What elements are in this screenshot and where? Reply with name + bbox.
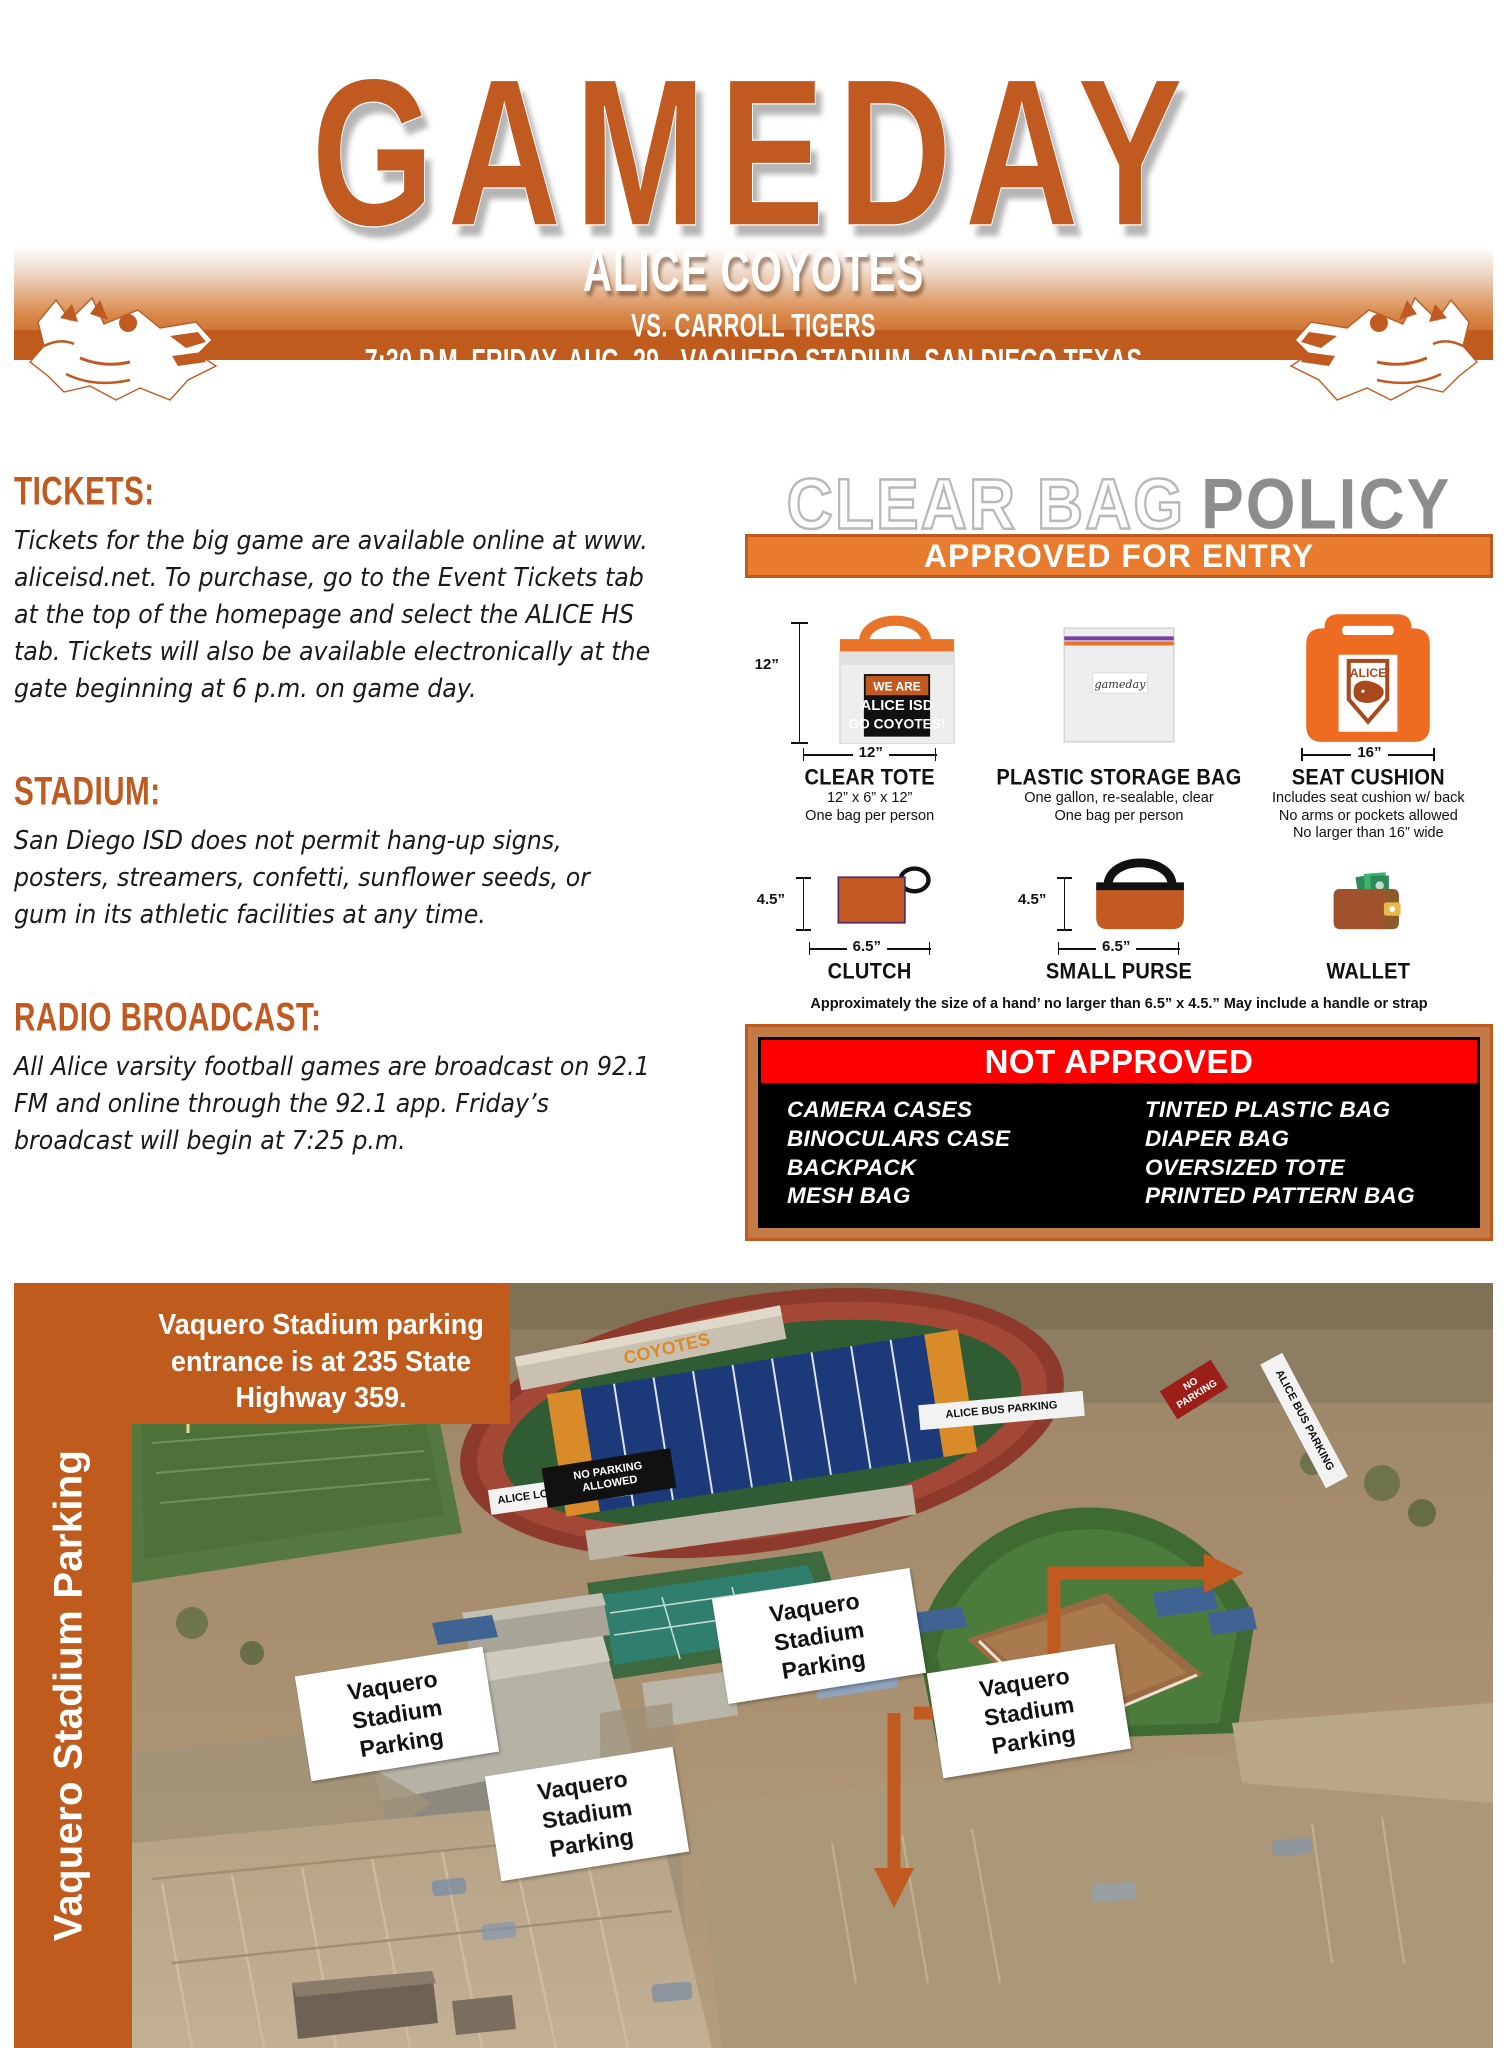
svg-text:gameday: gameday (1094, 678, 1146, 691)
team-name: ALICE COYOTES (118, 236, 1390, 305)
approved-bags-row-2: 4.5” 6.5” CLUTCH (745, 853, 1493, 984)
radio-section: RADIO BROADCAST: All Alice varsity footb… (14, 994, 714, 1160)
opponent-name: VS. CARROLL TIGERS (103, 308, 1405, 346)
clutch-width-dim-group: 6.5” (785, 938, 955, 958)
not-approved-item: CAMERA CASES (787, 1096, 1119, 1125)
clutch-width-dim: 6.5” (847, 938, 887, 955)
cbp-title-solid: POLICY (1201, 468, 1451, 540)
left-info-column: TICKETS: Tickets for the big game are av… (14, 468, 714, 1160)
approved-item-clear-tote: 12” WE ARE ALICE ISD GO COYOTES (745, 594, 994, 843)
seat-cushion-sub1: Includes seat cushion w/ back (1272, 790, 1465, 808)
approved-item-plastic-bag: gameday PLASTIC STORAGE BAG One gallon, … (994, 594, 1243, 843)
clear-tote-sub2: One bag per person (805, 808, 934, 826)
seat-cushion-icon: ALICE (1292, 602, 1444, 744)
clear-tote-height-dim: 12” (755, 656, 779, 673)
clear-tote-width-dim-group: 12” (785, 744, 955, 764)
svg-text:GO COYOTES!: GO COYOTES! (848, 716, 945, 731)
svg-text:ALICE ISD: ALICE ISD (860, 698, 933, 714)
spacer-1 (14, 708, 714, 768)
wallet-label: WALLET (1326, 960, 1410, 985)
game-details: 7:30 P.M. FRIDAY, AUG. 29 - VAQUERO STAD… (118, 342, 1390, 382)
svg-text:ALICE: ALICE (1350, 666, 1386, 680)
not-approved-item: MESH BAG (787, 1182, 1119, 1211)
tickets-body: Tickets for the big game are available o… (14, 523, 665, 708)
bag-size-footnote: Approximately the size of a hand’ no lar… (745, 996, 1493, 1012)
seat-cushion-label: SEAT CUSHION (1292, 766, 1445, 791)
small-purse-icon (1076, 857, 1208, 935)
clear-tote-icon: WE ARE ALICE ISD GO COYOTES! (817, 606, 977, 744)
clutch-label: CLUTCH (828, 960, 912, 985)
stadium-body: San Diego ISD does not permit hang-up si… (14, 823, 646, 934)
clutch-icon (817, 865, 949, 935)
seat-cushion-sub2: No arms or pockets allowed (1279, 808, 1458, 826)
radio-heading: RADIO BROADCAST: (14, 994, 644, 1040)
header-text-group: ALICE COYOTES VS. CARROLL TIGERS 7:30 P.… (14, 246, 1493, 361)
approved-item-small-purse: 4.5” 6.5” SMALL PURSE (994, 853, 1243, 984)
not-approved-item: DIAPER BAG (1145, 1125, 1477, 1154)
purse-width-dim-group: 6.5” (1034, 938, 1204, 958)
wallet-icon (1322, 870, 1414, 938)
approved-item-seat-cushion: ALICE 16” SEAT CUSHION Includes seat cus… (1244, 594, 1493, 843)
purse-height-dim: 4.5” (1018, 891, 1046, 908)
clear-tote-width-dim: 12” (853, 744, 889, 761)
title-zone: GAMEDAY (0, 0, 1507, 250)
not-approved-item: BINOCULARS CASE (787, 1125, 1119, 1154)
clear-tote-sub1: 12” x 6” x 12” (827, 790, 912, 808)
seat-cushion-width-dim: 16” (1351, 744, 1387, 761)
approved-item-clutch: 4.5” 6.5” CLUTCH (745, 853, 994, 984)
clear-tote-label: CLEAR TOTE (804, 766, 934, 791)
svg-text:WE ARE: WE ARE (873, 680, 920, 694)
clear-bag-policy-panel: CLEAR BAGPOLICY APPROVED FOR ENTRY 12” (745, 468, 1493, 1241)
not-approved-item: PRINTED PATTERN BAG (1145, 1182, 1477, 1211)
not-approved-item: BACKPACK (787, 1154, 1119, 1183)
tickets-section: TICKETS: Tickets for the big game are av… (14, 468, 714, 708)
not-approved-list: CAMERA CASES BINOCULARS CASE BACKPACK ME… (761, 1086, 1477, 1225)
plastic-bag-sub2: One bag per person (1055, 808, 1184, 826)
clear-tote-art: 12” WE ARE ALICE ISD GO COYOTES (745, 594, 994, 744)
radio-body: All Alice varsity football games are bro… (14, 1049, 665, 1160)
not-approved-inner: NOT APPROVED CAMERA CASES BINOCULARS CAS… (758, 1037, 1480, 1228)
not-approved-item: TINTED PLASTIC BAG (1145, 1096, 1477, 1125)
not-approved-panel: NOT APPROVED CAMERA CASES BINOCULARS CAS… (745, 1024, 1493, 1241)
stadium-section: STADIUM: San Diego ISD does not permit h… (14, 768, 714, 934)
not-approved-bar: NOT APPROVED (761, 1040, 1477, 1086)
parking-entrance-note: Vaquero Stadium parking entrance is at 2… (132, 1283, 510, 1424)
parking-map-section: Vaquero Stadium Parking (14, 1283, 1493, 2048)
tickets-heading: TICKETS: (14, 468, 644, 514)
small-purse-label: SMALL PURSE (1046, 960, 1192, 985)
not-approved-col-right: TINTED PLASTIC BAG DIAPER BAG OVERSIZED … (1119, 1096, 1477, 1211)
page-title: GAMEDAY (60, 48, 1446, 258)
plastic-bag-art: gameday (994, 594, 1243, 744)
stadium-heading: STADIUM: (14, 768, 644, 814)
not-approved-bar-label: NOT APPROVED (985, 1043, 1254, 1081)
plastic-storage-bag-icon: gameday (1048, 622, 1190, 744)
not-approved-item: OVERSIZED TOTE (1145, 1154, 1477, 1183)
not-approved-col-left: CAMERA CASES BINOCULARS CASE BACKPACK ME… (761, 1096, 1119, 1211)
parking-map-vertical-title: Vaquero Stadium Parking (47, 1436, 92, 1956)
small-purse-art: 4.5” (994, 853, 1243, 938)
approved-bags-row-1: 12” WE ARE ALICE ISD GO COYOTES (745, 594, 1493, 843)
seat-cushion-art: ALICE (1244, 594, 1493, 744)
seat-cushion-sub3: No larger than 16” wide (1293, 825, 1444, 843)
plastic-bag-label: PLASTIC STORAGE BAG (996, 766, 1241, 791)
clutch-art: 4.5” (745, 853, 994, 938)
clear-bag-policy-title: CLEAR BAGPOLICY (745, 468, 1493, 530)
wallet-art (1244, 853, 1493, 938)
seat-cushion-width-dim-group: 16” (1283, 744, 1453, 764)
approved-item-wallet: WALLET (1244, 853, 1493, 984)
plastic-bag-sub1: One gallon, re-sealable, clear (1024, 790, 1213, 808)
spacer-2 (14, 934, 714, 994)
cbp-title-hollow: CLEAR BAG (787, 468, 1185, 540)
purse-width-dim: 6.5” (1096, 938, 1136, 955)
clutch-height-dim: 4.5” (757, 891, 785, 908)
